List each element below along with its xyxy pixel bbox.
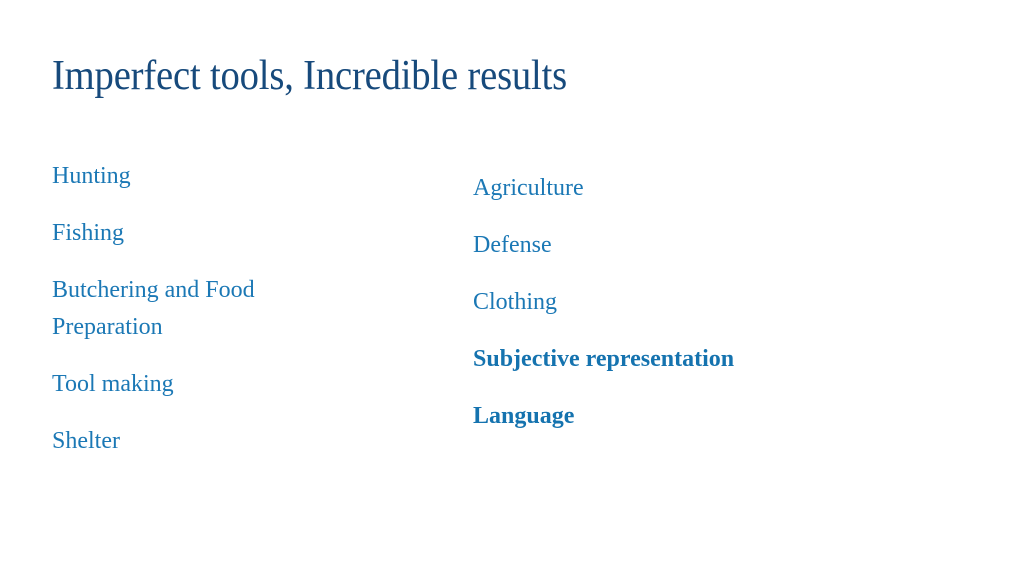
list-item: Defense bbox=[473, 227, 843, 264]
slide-canvas: Imperfect tools, Incredible results Hunt… bbox=[0, 0, 1024, 576]
content-column-right: Agriculture Defense Clothing Subjective … bbox=[473, 170, 843, 435]
list-item: Clothing bbox=[473, 284, 843, 321]
list-item: Language bbox=[473, 398, 843, 435]
capability-list-left: Hunting Fishing Butchering and Food Prep… bbox=[52, 158, 352, 460]
list-item: Tool making bbox=[52, 366, 352, 403]
content-column-left: Hunting Fishing Butchering and Food Prep… bbox=[52, 158, 352, 460]
list-item: Fishing bbox=[52, 215, 352, 252]
list-item: Butchering and Food Preparation bbox=[52, 272, 352, 346]
capability-list-right: Agriculture Defense Clothing Subjective … bbox=[473, 170, 843, 435]
list-item: Subjective representation bbox=[473, 341, 843, 378]
list-item: Agriculture bbox=[473, 170, 843, 207]
slide-content: Hunting Fishing Butchering and Food Prep… bbox=[0, 0, 1024, 576]
list-item: Hunting bbox=[52, 158, 352, 195]
list-item: Shelter bbox=[52, 423, 352, 460]
